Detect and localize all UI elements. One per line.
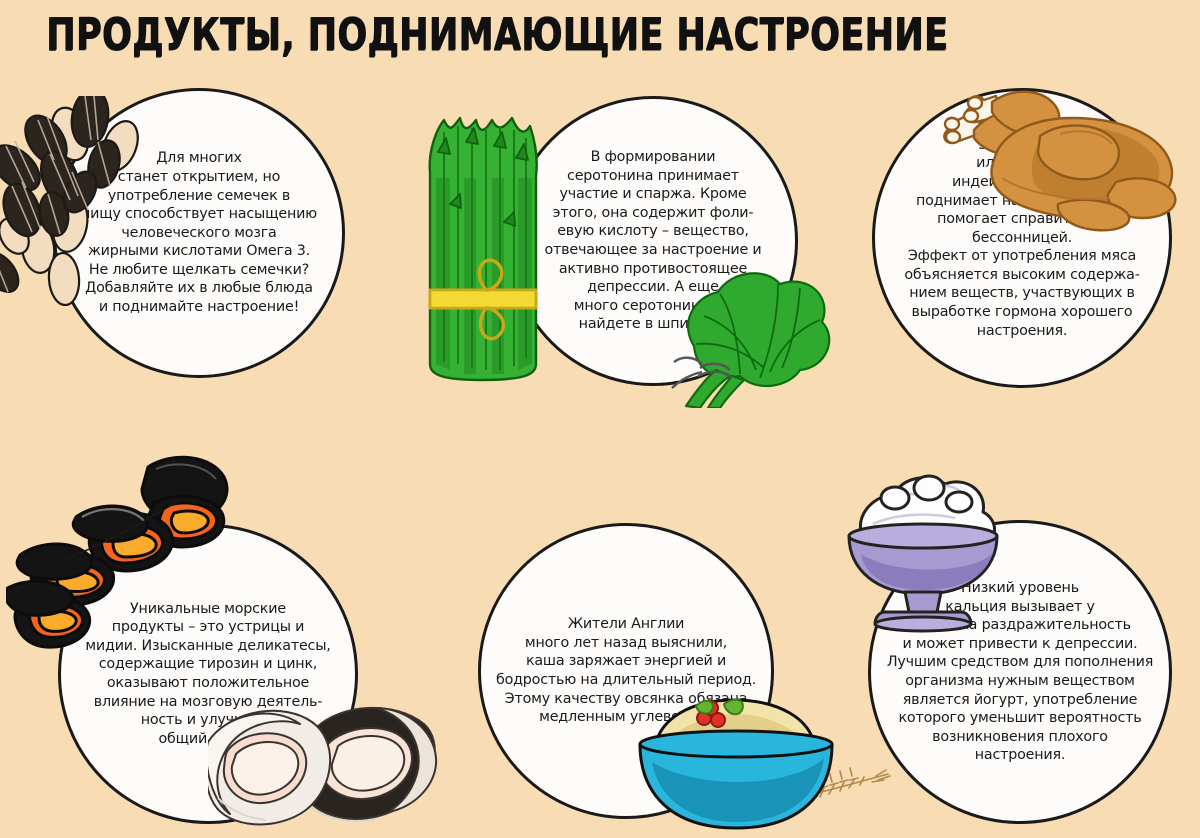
info-bubble-turkey: Запеченная или вареная индейка не просто… [872,88,1172,388]
bubble-text-shellfish: Уникальные морские продукты – это устриц… [71,600,344,749]
bubble-text-turkey: Запеченная или вареная индейка не просто… [875,136,1169,340]
info-bubble-asparagus: В формировании серотонина принимает учас… [508,96,798,386]
bubble-text-yogurt: Низкий уровень кальция вызывает у челове… [873,579,1167,765]
bubble-text-porridge: Жители Англии много лет назад выяснили, … [482,615,770,726]
info-bubble-yogurt: Низкий уровень кальция вызывает у челове… [868,520,1172,824]
info-bubble-shellfish: Уникальные морские продукты – это устриц… [58,524,358,824]
wheat-stalk-icon [726,766,896,822]
info-bubble-porridge: Жители Англии много лет назад выяснили, … [478,523,774,819]
bubble-text-asparagus: В формировании серотонина принимает учас… [530,148,775,334]
bubble-text-seeds: Для многих станет открытием, но употребл… [67,149,331,316]
page-title: ПРОДУКТЫ, ПОДНИМАЮЩИЕ НАСТРОЕНИЕ [46,8,948,60]
infographic-canvas: ПРОДУКТЫ, ПОДНИМАЮЩИЕ НАСТРОЕНИЕ [0,0,1200,838]
info-bubble-seeds: Для многих станет открытием, но употребл… [53,88,345,378]
